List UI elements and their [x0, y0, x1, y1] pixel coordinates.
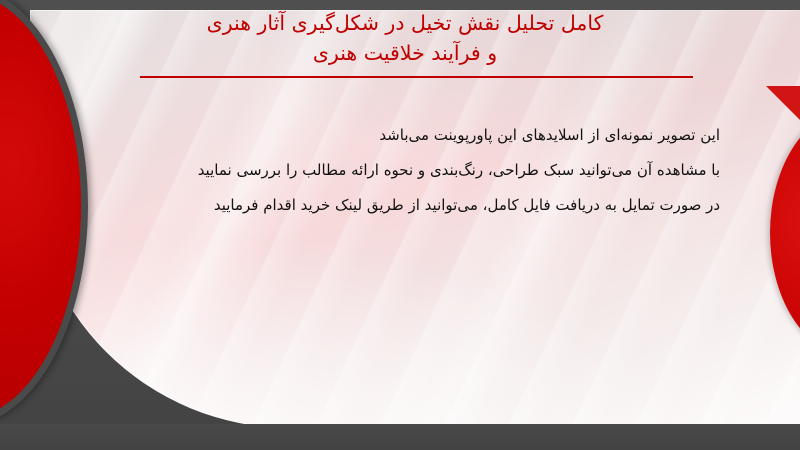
body-line-3: در صورت تمایل به دریافت فایل کامل، می‌تو… [80, 188, 720, 223]
body-line-2: با مشاهده آن می‌توانید سبک طراحی، رنگ‌بن… [80, 153, 720, 188]
body-line-1: این تصویر نمونه‌ای از اسلایدهای این پاور… [80, 118, 720, 153]
red-triangle-accent-icon [766, 86, 800, 120]
title-line-1: کامل تحلیل نقش تخیل در شکل‌گیری آثار هنر… [110, 8, 700, 38]
title-line-2: و فرآیند خلاقیت هنری [110, 38, 700, 68]
presentation-slide: کامل تحلیل نقش تخیل در شکل‌گیری آثار هنر… [0, 0, 800, 450]
slide-title: کامل تحلیل نقش تخیل در شکل‌گیری آثار هنر… [110, 8, 700, 68]
slide-bottom-band [0, 424, 800, 450]
slide-body-text: این تصویر نمونه‌ای از اسلایدهای این پاور… [80, 118, 720, 223]
title-underline-rule [140, 76, 693, 78]
